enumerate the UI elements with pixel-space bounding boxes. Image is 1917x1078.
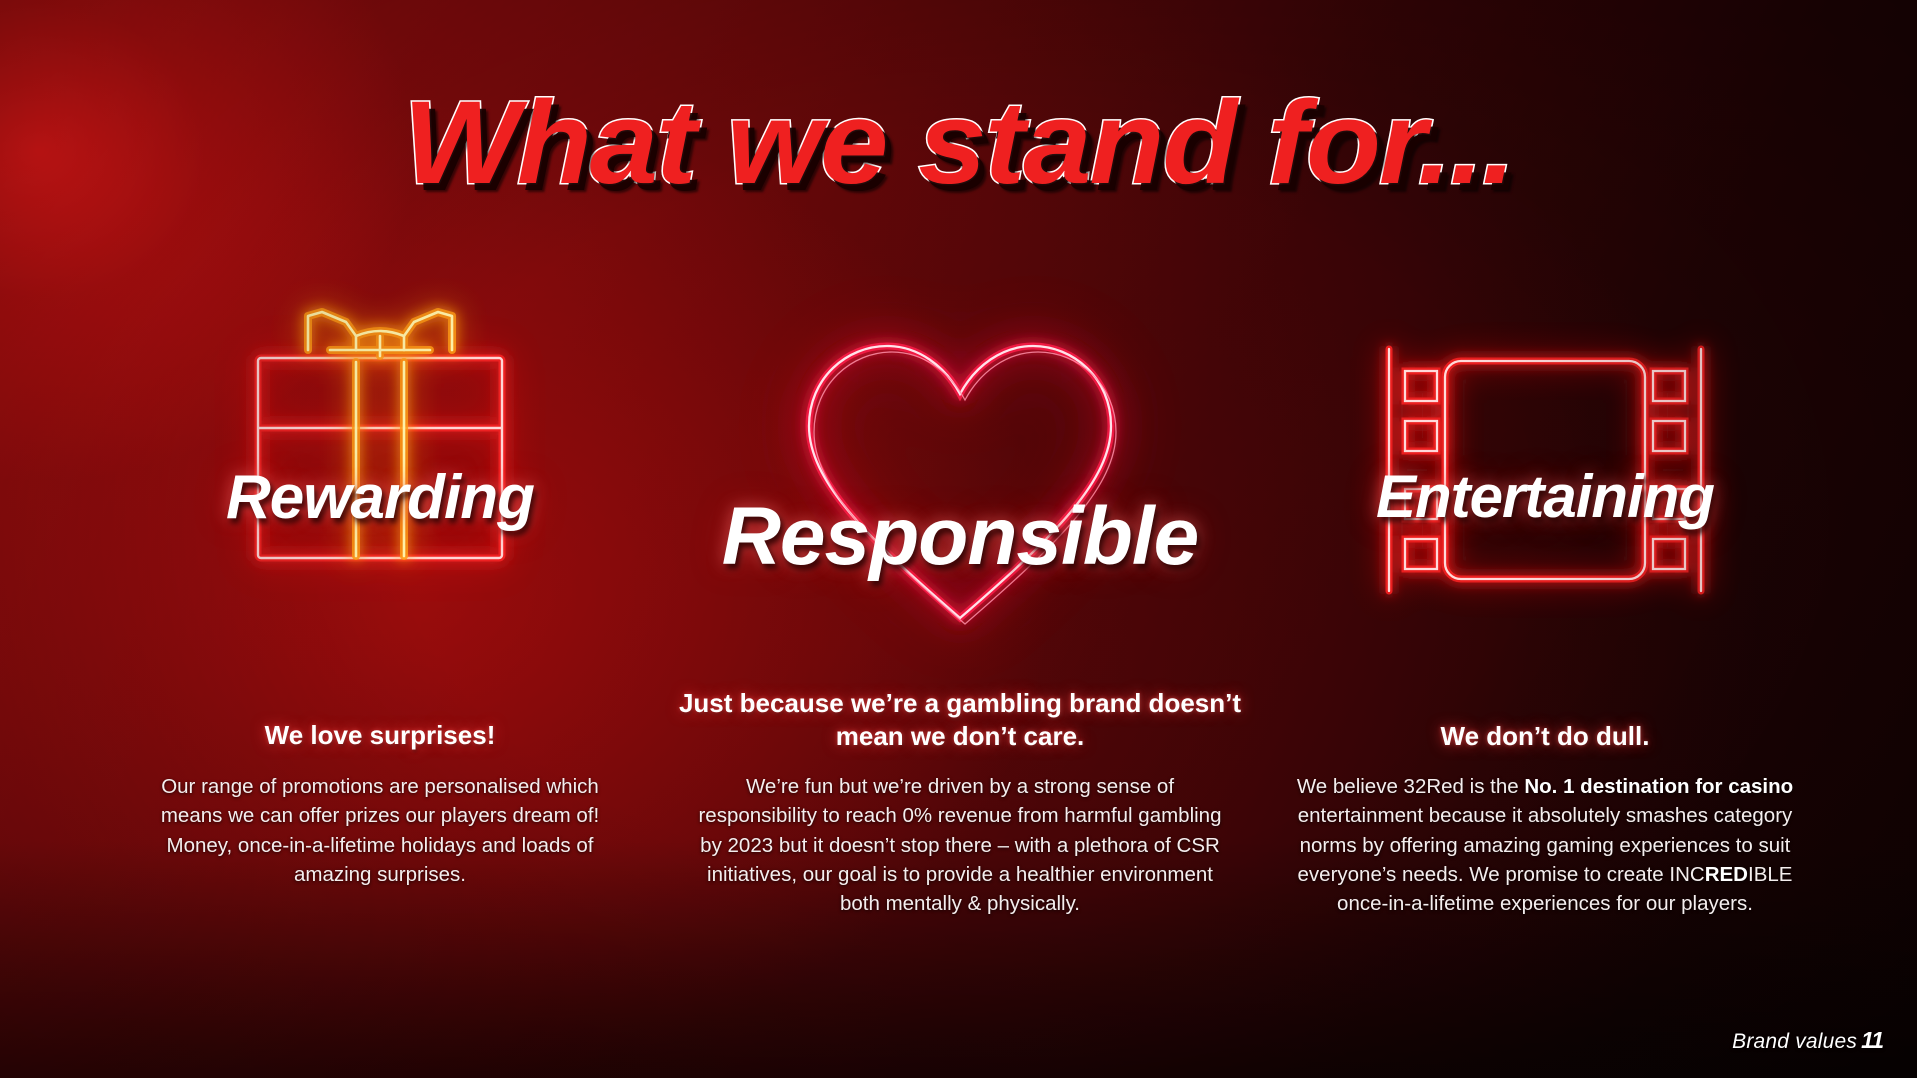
value-word-responsible: Responsible: [655, 490, 1265, 584]
value-word-entertaining: Entertaining: [1245, 462, 1845, 531]
sub-headline-entertaining: We don’t do dull.: [1245, 720, 1845, 753]
value-word-rewarding: Rewarding: [80, 462, 680, 533]
body-text-bold-red: RED: [1705, 863, 1748, 886]
gift-box-neon-icon: [80, 300, 680, 580]
body-copy-rewarding: Our range of promotions are personalised…: [80, 772, 680, 889]
footer-label: Brand values: [1732, 1030, 1857, 1053]
slide-canvas: What we stand for...: [0, 0, 1917, 1078]
body-text-bold-destination: No. 1 destination for casino: [1524, 775, 1793, 798]
page-title: What we stand for...: [0, 84, 1917, 202]
body-copy-responsible: We’re fun but we’re driven by a strong s…: [655, 772, 1265, 919]
body-copy-entertaining: We believe 32Red is the No. 1 destinatio…: [1245, 772, 1845, 919]
heart-neon-icon: [655, 330, 1265, 630]
page-number: 11: [1861, 1027, 1883, 1053]
sub-headline-responsible: Just because we’re a gambling brand does…: [655, 687, 1265, 752]
footer-brand-values: Brand values11: [1732, 1027, 1883, 1054]
sub-headline-rewarding: We love surprises!: [80, 719, 680, 752]
body-text-part-1: We believe 32Red is the: [1297, 775, 1525, 798]
